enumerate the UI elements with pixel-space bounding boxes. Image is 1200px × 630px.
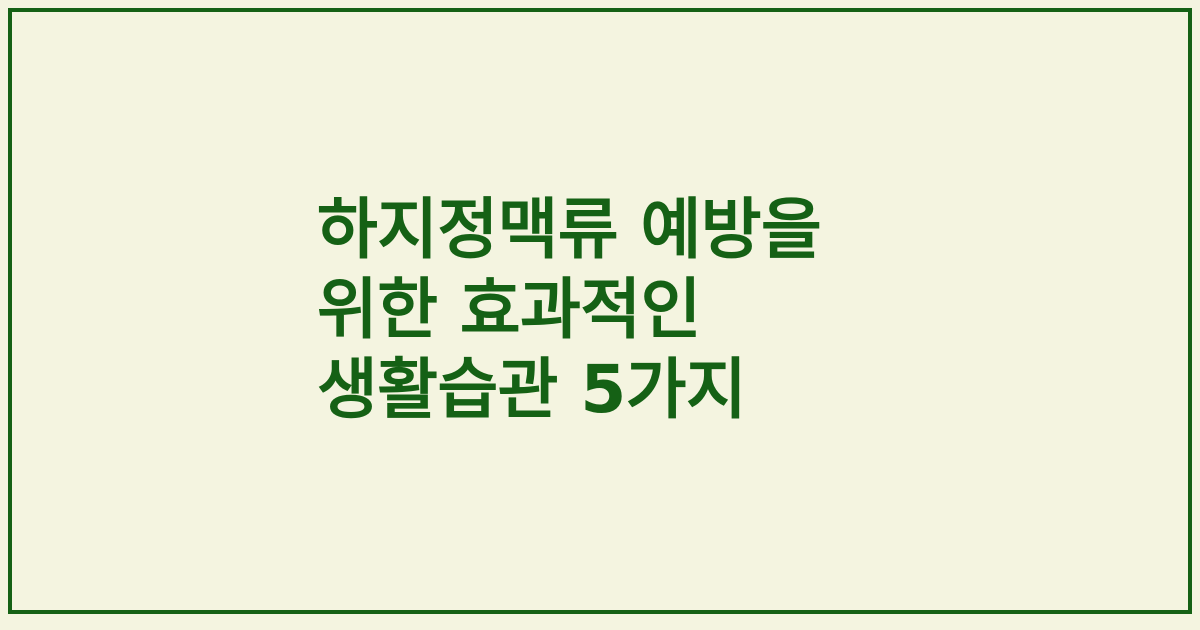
poster-title: 하지정맥류 예방을 위한 효과적인 생활습관 5가지 (317, 190, 1017, 430)
title-line-2: 위한 효과적인 (317, 270, 1017, 350)
title-line-1: 하지정맥류 예방을 (317, 190, 1017, 270)
poster-canvas: 하지정맥류 예방을 위한 효과적인 생활습관 5가지 (0, 0, 1200, 630)
title-line-3: 생활습관 5가지 (317, 350, 1017, 430)
